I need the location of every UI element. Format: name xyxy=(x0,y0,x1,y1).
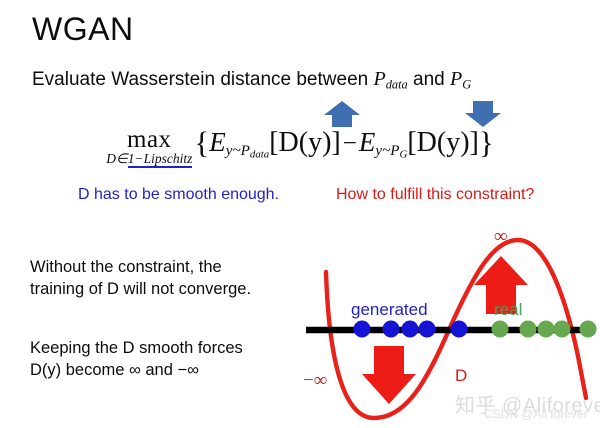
close-brace: } xyxy=(479,125,494,160)
p-data-subscript: data xyxy=(386,77,408,91)
expectation-data-body: [D(y)] xyxy=(269,127,341,158)
subtitle-conjunction: and xyxy=(408,69,450,90)
label-negative-infinity: −∞ xyxy=(303,370,327,392)
expectation-g-body: [D(y)] xyxy=(407,127,479,158)
label-real: real xyxy=(494,300,522,320)
watermark-csdn: CSDN @Ali forever xyxy=(484,407,588,421)
expectation-data-subscript: y~Pdata xyxy=(226,143,269,159)
max-label: max xyxy=(106,128,192,152)
body-para2-line1: Keeping the D smooth forces xyxy=(30,337,320,359)
p-g-subscript: G xyxy=(462,77,471,91)
expectation-g-base: E xyxy=(359,127,376,157)
body-paragraph-convergence: Without the constraint, the training of … xyxy=(30,256,310,300)
label-positive-infinity: ∞ xyxy=(494,226,508,248)
body-paragraph-smoothness: Keeping the D smooth forces D(y) become … xyxy=(30,337,320,381)
expectation-g-subscript: y~PG xyxy=(375,143,407,159)
body-para1-line2: training of D will not converge. xyxy=(30,278,310,300)
blue-down-arrow-icon xyxy=(463,100,503,128)
p-g-symbol: PG xyxy=(450,68,471,90)
open-brace: { xyxy=(194,125,209,160)
expectation-g-subscript-main: y~P xyxy=(375,143,399,159)
page-title: WGAN xyxy=(32,10,134,48)
note-smoothness: D has to be smooth enough. xyxy=(78,186,279,204)
label-discriminator-curve: D xyxy=(455,366,467,386)
subtitle-prefix: Evaluate Wasserstein distance between xyxy=(32,69,373,90)
p-data-base: P xyxy=(373,68,385,90)
lipschitz-constraint: 1−Lipschitz xyxy=(128,151,193,168)
expectation-data-subscript-main: y~P xyxy=(226,143,250,159)
slide-canvas: WGAN Evaluate Wasserstein distance betwe… xyxy=(0,0,600,428)
blue-up-arrow-icon xyxy=(322,100,362,128)
p-data-symbol: Pdata xyxy=(373,68,407,90)
expectation-data-subscript-sub: data xyxy=(250,149,269,161)
label-generated: generated xyxy=(351,300,428,320)
body-para1-line1: Without the constraint, the xyxy=(30,256,310,278)
note-question: How to fulfill this constraint? xyxy=(336,186,534,204)
max-condition-prefix: D∈ xyxy=(106,151,128,166)
minus-operator: − xyxy=(341,130,359,157)
expectation-data-base: E xyxy=(209,127,226,157)
wasserstein-formula: max D∈1−Lipschitz {Ey~Pdata[D(y)]−Ey~PG[… xyxy=(0,124,600,162)
max-operator: max D∈1−Lipschitz xyxy=(106,128,192,166)
body-para2-line2: D(y) become ∞ and −∞ xyxy=(30,359,320,381)
subtitle-text: Evaluate Wasserstein distance between Pd… xyxy=(32,66,471,97)
formula-expression: {Ey~Pdata[D(y)]−Ey~PG[D(y)]} xyxy=(194,125,493,161)
max-condition: D∈1−Lipschitz xyxy=(106,151,192,166)
p-g-base: P xyxy=(450,68,462,90)
